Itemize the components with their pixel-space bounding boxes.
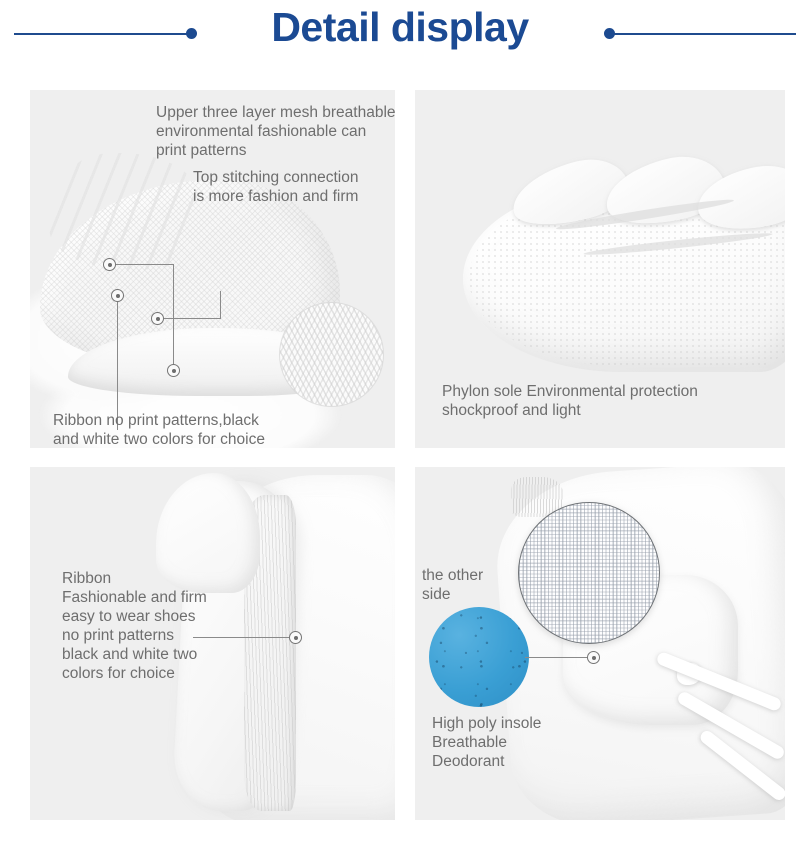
leader-line-1h <box>116 264 174 265</box>
leader-line-4h <box>164 318 221 319</box>
mesh-fabric-detail-circle <box>518 502 660 644</box>
blue-insole-detail-circle <box>429 607 529 707</box>
leader-line-4v <box>220 291 221 319</box>
panel-heel-ribbon: Ribbon Fashionable and firm easy to wear… <box>30 467 395 820</box>
panel-upper-mesh: Upper three layer mesh breathable enviro… <box>30 90 395 448</box>
callout-upper-mesh-note: Upper three layer mesh breathable enviro… <box>156 104 395 161</box>
page-title: Detail display <box>0 4 800 51</box>
callout-marker-2 <box>111 289 124 302</box>
panel-phylon-sole: Phylon sole Environmental protection sho… <box>415 90 785 448</box>
page-header: Detail display <box>0 0 800 72</box>
callout-insole-note: High poly insole Breathable Deodorant <box>432 715 612 772</box>
detail-display-page: Detail display Upper three layer mesh br… <box>0 0 800 853</box>
header-rule-right <box>614 33 796 35</box>
callout-marker-insole <box>587 651 600 664</box>
callout-marker-ribbon <box>289 631 302 644</box>
leader-line-1v <box>173 264 174 369</box>
callout-marker-3 <box>167 364 180 377</box>
callout-phylon-note: Phylon sole Environmental protection sho… <box>442 383 762 421</box>
callout-ribbon-detail-note: Ribbon Fashionable and firm easy to wear… <box>62 570 230 683</box>
stitching-zoom-circle <box>280 303 383 406</box>
leader-line-2v <box>117 302 118 430</box>
leader-line-insole <box>525 657 588 658</box>
callout-marker-4 <box>151 312 164 325</box>
callout-top-stitching-note: Top stitching connection is more fashion… <box>193 169 395 207</box>
callout-other-side-note: the other side <box>422 567 532 605</box>
callout-marker-1 <box>103 258 116 271</box>
panel-insole-detail: the other side High poly insole Breathab… <box>415 467 785 820</box>
callout-ribbon-note: Ribbon no print patterns,black and white… <box>53 412 313 448</box>
insole-speckle-texture <box>429 607 529 707</box>
